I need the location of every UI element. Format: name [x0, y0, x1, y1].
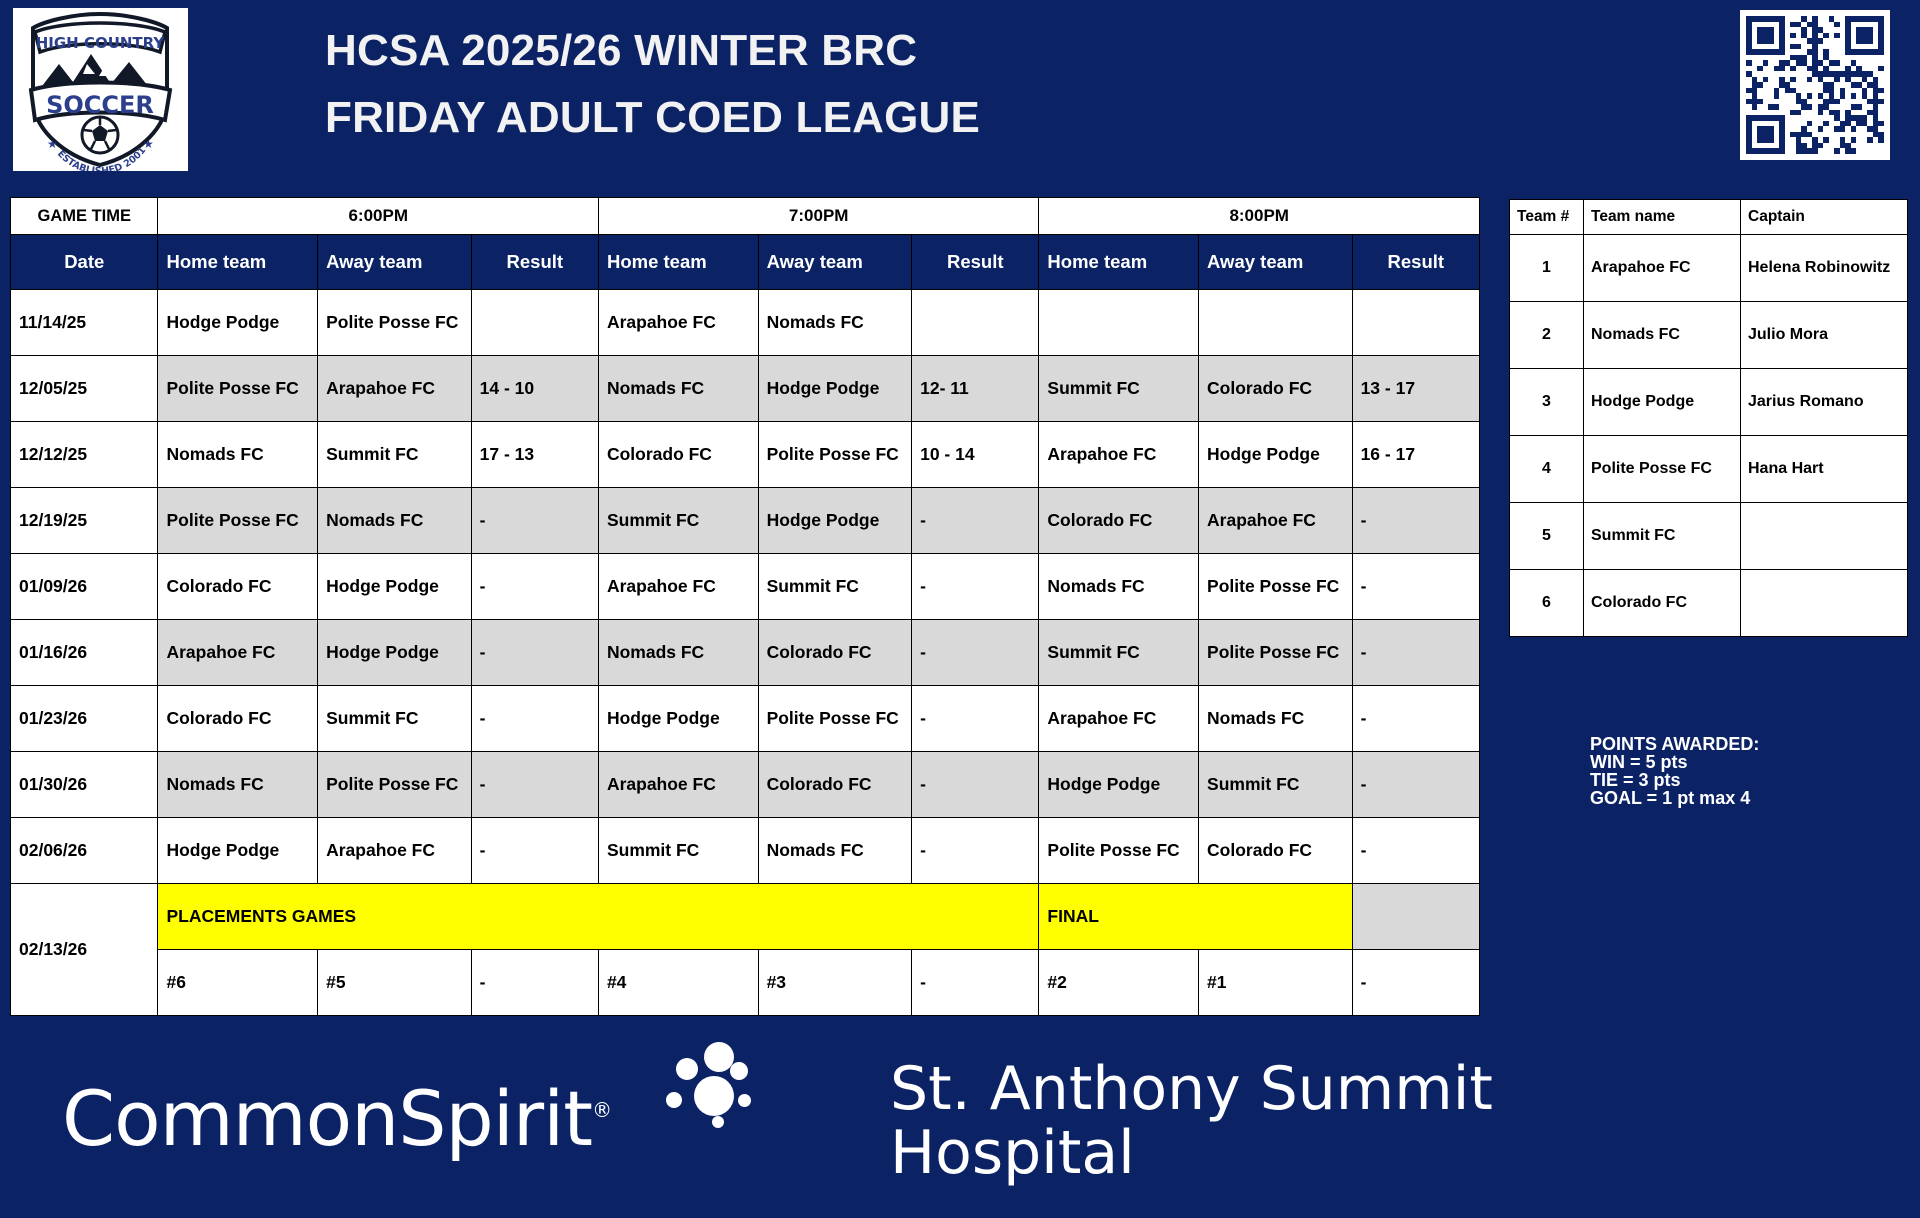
row-date: 01/09/26	[11, 554, 158, 620]
row-date: 01/30/26	[11, 752, 158, 818]
game-result[interactable]: 14 - 10	[471, 356, 598, 422]
game-home-team[interactable]: Arapahoe FC	[158, 620, 318, 686]
game-home-team[interactable]: Hodge Podge	[158, 290, 318, 356]
schedule-row: 11/14/25Hodge PodgePolite Posse FCArapah…	[11, 290, 1480, 356]
game-result[interactable]: -	[912, 686, 1039, 752]
game-home-team[interactable]: Arapahoe FC	[1039, 422, 1199, 488]
game-away-team[interactable]: Polite Posse FC	[758, 422, 912, 488]
game-result[interactable]: -	[471, 752, 598, 818]
game-home-team[interactable]: Arapahoe FC	[1039, 686, 1199, 752]
final-home-seed[interactable]: #2	[1039, 950, 1199, 1016]
game-away-team[interactable]: Colorado FC	[758, 752, 912, 818]
game-away-team[interactable]: Arapahoe FC	[318, 818, 472, 884]
commonspirit-label: CommonSpirit	[62, 1074, 592, 1163]
row-date: 02/06/26	[11, 818, 158, 884]
col-header-team-name: Team name	[1584, 200, 1741, 235]
points-title: POINTS AWARDED:	[1590, 735, 1910, 753]
teams-header-row: Team #Team nameCaptain	[1510, 200, 1908, 235]
row-date: 12/19/25	[11, 488, 158, 554]
final-home-seed[interactable]: #6	[158, 950, 318, 1016]
title-line-2: FRIDAY ADULT COED LEAGUE	[325, 85, 1225, 152]
game-result[interactable]: -	[471, 488, 598, 554]
timeslot-1: 6:00PM	[158, 198, 598, 235]
game-result[interactable]	[912, 290, 1039, 356]
game-result[interactable]: -	[912, 554, 1039, 620]
game-result[interactable]: -	[912, 818, 1039, 884]
game-away-team[interactable]	[1199, 290, 1353, 356]
game-away-team[interactable]: Hodge Podge	[758, 488, 912, 554]
team-number: 5	[1510, 503, 1584, 570]
team-number: 3	[1510, 369, 1584, 436]
svg-text:HIGH COUNTRY: HIGH COUNTRY	[36, 34, 166, 52]
teams-table: Team #Team nameCaptain1Arapahoe FCHelena…	[1509, 199, 1908, 637]
game-away-team[interactable]: Arapahoe FC	[1199, 488, 1353, 554]
game-home-team[interactable]: Nomads FC	[598, 620, 758, 686]
game-home-team[interactable]: Hodge Podge	[598, 686, 758, 752]
col-header-away-3: Away team	[1199, 235, 1353, 290]
game-result[interactable]: -	[1352, 818, 1479, 884]
placements-games-label: PLACEMENTS GAMES	[158, 884, 1039, 950]
game-result[interactable]	[471, 290, 598, 356]
final-home-seed[interactable]: #4	[598, 950, 758, 1016]
final-row-date: 02/13/26	[11, 884, 158, 1016]
game-result[interactable]: 17 - 13	[471, 422, 598, 488]
row-date: 12/12/25	[11, 422, 158, 488]
game-home-team[interactable]	[1039, 290, 1199, 356]
game-home-team[interactable]: Hodge Podge	[1039, 752, 1199, 818]
hospital-line-2: Hospital	[890, 1122, 1493, 1186]
team-row: 2Nomads FCJulio Mora	[1510, 302, 1908, 369]
final-banner-spacer	[1352, 884, 1479, 950]
col-header-team-num: Team #	[1510, 200, 1584, 235]
schedule-row: 01/30/26Nomads FCPolite Posse FC-Arapaho…	[11, 752, 1480, 818]
game-away-team[interactable]: Polite Posse FC	[318, 752, 472, 818]
game-home-team[interactable]: Colorado FC	[158, 686, 318, 752]
game-result[interactable]: -	[1352, 554, 1479, 620]
team-row: 4Polite Posse FCHana Hart	[1510, 436, 1908, 503]
placements-banner-row: 02/13/26PLACEMENTS GAMESFINAL	[11, 884, 1480, 950]
schedule-row: 01/23/26Colorado FCSummit FC-Hodge Podge…	[11, 686, 1480, 752]
game-time-label: GAME TIME	[11, 198, 158, 235]
teams-table-wrapper: Team #Team nameCaptain1Arapahoe FCHelena…	[1509, 199, 1907, 637]
row-date: 01/16/26	[11, 620, 158, 686]
game-result[interactable]	[1352, 290, 1479, 356]
game-away-team[interactable]: Polite Posse FC	[758, 686, 912, 752]
team-captain[interactable]	[1741, 570, 1908, 637]
game-result[interactable]: 12- 11	[912, 356, 1039, 422]
game-home-team[interactable]: Summit FC	[1039, 620, 1199, 686]
game-away-team[interactable]: Summit FC	[318, 422, 472, 488]
game-home-team[interactable]: Hodge Podge	[158, 818, 318, 884]
schedule-row: 02/06/26Hodge PodgeArapahoe FC-Summit FC…	[11, 818, 1480, 884]
svg-text:★: ★	[143, 137, 154, 151]
team-name[interactable]: Colorado FC	[1584, 570, 1741, 637]
team-number: 1	[1510, 235, 1584, 302]
team-captain[interactable]: Hana Hart	[1741, 436, 1908, 503]
game-result[interactable]: -	[471, 686, 598, 752]
final-result[interactable]: -	[912, 950, 1039, 1016]
schedule-header-row: DateHome teamAway teamResultHome teamAwa…	[11, 235, 1480, 290]
game-away-team[interactable]: Colorado FC	[1199, 356, 1353, 422]
svg-text:★: ★	[47, 137, 58, 151]
game-home-team[interactable]: Colorado FC	[158, 554, 318, 620]
sponsor-footer: CommonSpirit® St. Anthony Summit Hospita…	[0, 1010, 1920, 1218]
game-result[interactable]: -	[912, 752, 1039, 818]
page-title: HCSA 2025/26 WINTER BRC FRIDAY ADULT COE…	[325, 18, 1225, 152]
points-goal: GOAL = 1 pt max 4	[1590, 789, 1910, 807]
game-away-team[interactable]: Hodge Podge	[758, 356, 912, 422]
team-number: 2	[1510, 302, 1584, 369]
team-captain[interactable]: Julio Mora	[1741, 302, 1908, 369]
game-result[interactable]: -	[912, 620, 1039, 686]
row-date: 01/23/26	[11, 686, 158, 752]
game-result[interactable]: -	[1352, 752, 1479, 818]
game-result[interactable]: -	[1352, 686, 1479, 752]
game-result[interactable]: 16 - 17	[1352, 422, 1479, 488]
game-away-team[interactable]: Polite Posse FC	[318, 290, 472, 356]
game-result[interactable]: 10 - 14	[912, 422, 1039, 488]
st-anthony-summit-hospital: St. Anthony Summit Hospital	[890, 1058, 1493, 1185]
game-result[interactable]: -	[471, 620, 598, 686]
schedule-row: 12/12/25Nomads FCSummit FC17 - 13Colorad…	[11, 422, 1480, 488]
team-name[interactable]: Polite Posse FC	[1584, 436, 1741, 503]
game-result[interactable]: -	[1352, 620, 1479, 686]
final-away-seed[interactable]: #5	[318, 950, 472, 1016]
final-away-seed[interactable]: #3	[758, 950, 912, 1016]
game-away-team[interactable]: Nomads FC	[318, 488, 472, 554]
game-result[interactable]: -	[471, 554, 598, 620]
col-header-home-1: Home team	[158, 235, 318, 290]
game-result[interactable]: -	[471, 818, 598, 884]
game-away-team[interactable]: Summit FC	[758, 554, 912, 620]
game-home-team[interactable]: Summit FC	[598, 488, 758, 554]
points-awarded-panel: POINTS AWARDED: WIN = 5 pts TIE = 3 pts …	[1590, 735, 1910, 807]
game-home-team[interactable]: Colorado FC	[598, 422, 758, 488]
row-date: 12/05/25	[11, 356, 158, 422]
hospital-line-1: St. Anthony Summit	[890, 1058, 1493, 1122]
hcsa-logo: HIGH COUNTRY SOCCER ESTABLISHED 2001 ★ ★	[13, 8, 188, 171]
col-header-result-2: Result	[912, 235, 1039, 290]
team-captain[interactable]	[1741, 503, 1908, 570]
game-result[interactable]: -	[1352, 488, 1479, 554]
col-header-away-2: Away team	[758, 235, 912, 290]
game-away-team[interactable]: Nomads FC	[758, 290, 912, 356]
svg-text:SOCCER: SOCCER	[46, 91, 154, 119]
final-result[interactable]: -	[1352, 950, 1479, 1016]
game-away-team[interactable]: Polite Posse FC	[1199, 554, 1353, 620]
game-away-team[interactable]: Colorado FC	[1199, 818, 1353, 884]
team-name[interactable]: Summit FC	[1584, 503, 1741, 570]
schedule-timeslot-row: GAME TIME6:00PM7:00PM8:00PM	[11, 198, 1480, 235]
team-number: 6	[1510, 570, 1584, 637]
points-win: WIN = 5 pts	[1590, 753, 1910, 771]
game-away-team[interactable]: Summit FC	[1199, 752, 1353, 818]
team-row: 1Arapahoe FCHelena Robinowitz	[1510, 235, 1908, 302]
game-result[interactable]: -	[912, 488, 1039, 554]
game-result[interactable]: 13 - 17	[1352, 356, 1479, 422]
timeslot-3: 8:00PM	[1039, 198, 1480, 235]
team-name[interactable]: Nomads FC	[1584, 302, 1741, 369]
schedule-row: 12/05/25Polite Posse FCArapahoe FC14 - 1…	[11, 356, 1480, 422]
team-row: 3Hodge PodgeJarius Romano	[1510, 369, 1908, 436]
commonspirit-burst-icon	[660, 1042, 770, 1134]
game-home-team[interactable]: Summit FC	[598, 818, 758, 884]
game-home-team[interactable]: Colorado FC	[1039, 488, 1199, 554]
schedule-table-wrapper: GAME TIME6:00PM7:00PM8:00PMDateHome team…	[10, 197, 1480, 1016]
team-name[interactable]: Hodge Podge	[1584, 369, 1741, 436]
col-header-away-1: Away team	[318, 235, 472, 290]
col-header-result-1: Result	[471, 235, 598, 290]
final-away-seed[interactable]: #1	[1199, 950, 1353, 1016]
game-home-team[interactable]: Polite Posse FC	[158, 356, 318, 422]
game-home-team[interactable]: Arapahoe FC	[598, 554, 758, 620]
points-tie: TIE = 3 pts	[1590, 771, 1910, 789]
game-away-team[interactable]: Nomads FC	[758, 818, 912, 884]
final-label: FINAL	[1039, 884, 1352, 950]
col-header-captain: Captain	[1741, 200, 1908, 235]
game-home-team[interactable]: Nomads FC	[1039, 554, 1199, 620]
team-name[interactable]: Arapahoe FC	[1584, 235, 1741, 302]
game-home-team[interactable]: Nomads FC	[158, 752, 318, 818]
registered-mark: ®	[592, 1098, 611, 1122]
final-result[interactable]: -	[471, 950, 598, 1016]
col-header-home-2: Home team	[598, 235, 758, 290]
game-away-team[interactable]: Polite Posse FC	[1199, 620, 1353, 686]
game-away-team[interactable]: Hodge Podge	[318, 620, 472, 686]
team-captain[interactable]: Jarius Romano	[1741, 369, 1908, 436]
game-home-team[interactable]: Polite Posse FC	[1039, 818, 1199, 884]
team-row: 5Summit FC	[1510, 503, 1908, 570]
game-home-team[interactable]: Polite Posse FC	[158, 488, 318, 554]
row-date: 11/14/25	[11, 290, 158, 356]
col-header-date: Date	[11, 235, 158, 290]
title-line-1: HCSA 2025/26 WINTER BRC	[325, 18, 1225, 85]
team-number: 4	[1510, 436, 1584, 503]
game-away-team[interactable]: Hodge Podge	[318, 554, 472, 620]
schedule-row: 12/19/25Polite Posse FCNomads FC-Summit …	[11, 488, 1480, 554]
game-home-team[interactable]: Nomads FC	[158, 422, 318, 488]
commonspirit-wordmark: CommonSpirit®	[62, 1074, 611, 1163]
game-away-team[interactable]: Colorado FC	[758, 620, 912, 686]
schedule-table: GAME TIME6:00PM7:00PM8:00PMDateHome team…	[10, 197, 1480, 1016]
game-home-team[interactable]: Summit FC	[1039, 356, 1199, 422]
panel-divider	[1482, 197, 1500, 825]
team-captain[interactable]: Helena Robinowitz	[1741, 235, 1908, 302]
game-away-team[interactable]: Summit FC	[318, 686, 472, 752]
game-home-team[interactable]: Nomads FC	[598, 356, 758, 422]
timeslot-2: 7:00PM	[598, 198, 1038, 235]
game-away-team[interactable]: Arapahoe FC	[318, 356, 472, 422]
game-home-team[interactable]: Arapahoe FC	[598, 290, 758, 356]
page-header: HIGH COUNTRY SOCCER ESTABLISHED 2001 ★ ★…	[0, 0, 1920, 188]
game-away-team[interactable]: Hodge Podge	[1199, 422, 1353, 488]
game-away-team[interactable]: Nomads FC	[1199, 686, 1353, 752]
col-header-home-3: Home team	[1039, 235, 1199, 290]
qr-code[interactable]	[1740, 10, 1890, 160]
schedule-row: 01/16/26Arapahoe FCHodge Podge-Nomads FC…	[11, 620, 1480, 686]
final-matchups-row: #6#5-#4#3-#2#1-	[11, 950, 1480, 1016]
schedule-row: 01/09/26Colorado FCHodge Podge-Arapahoe …	[11, 554, 1480, 620]
team-row: 6Colorado FC	[1510, 570, 1908, 637]
game-home-team[interactable]: Arapahoe FC	[598, 752, 758, 818]
col-header-result-3: Result	[1352, 235, 1479, 290]
